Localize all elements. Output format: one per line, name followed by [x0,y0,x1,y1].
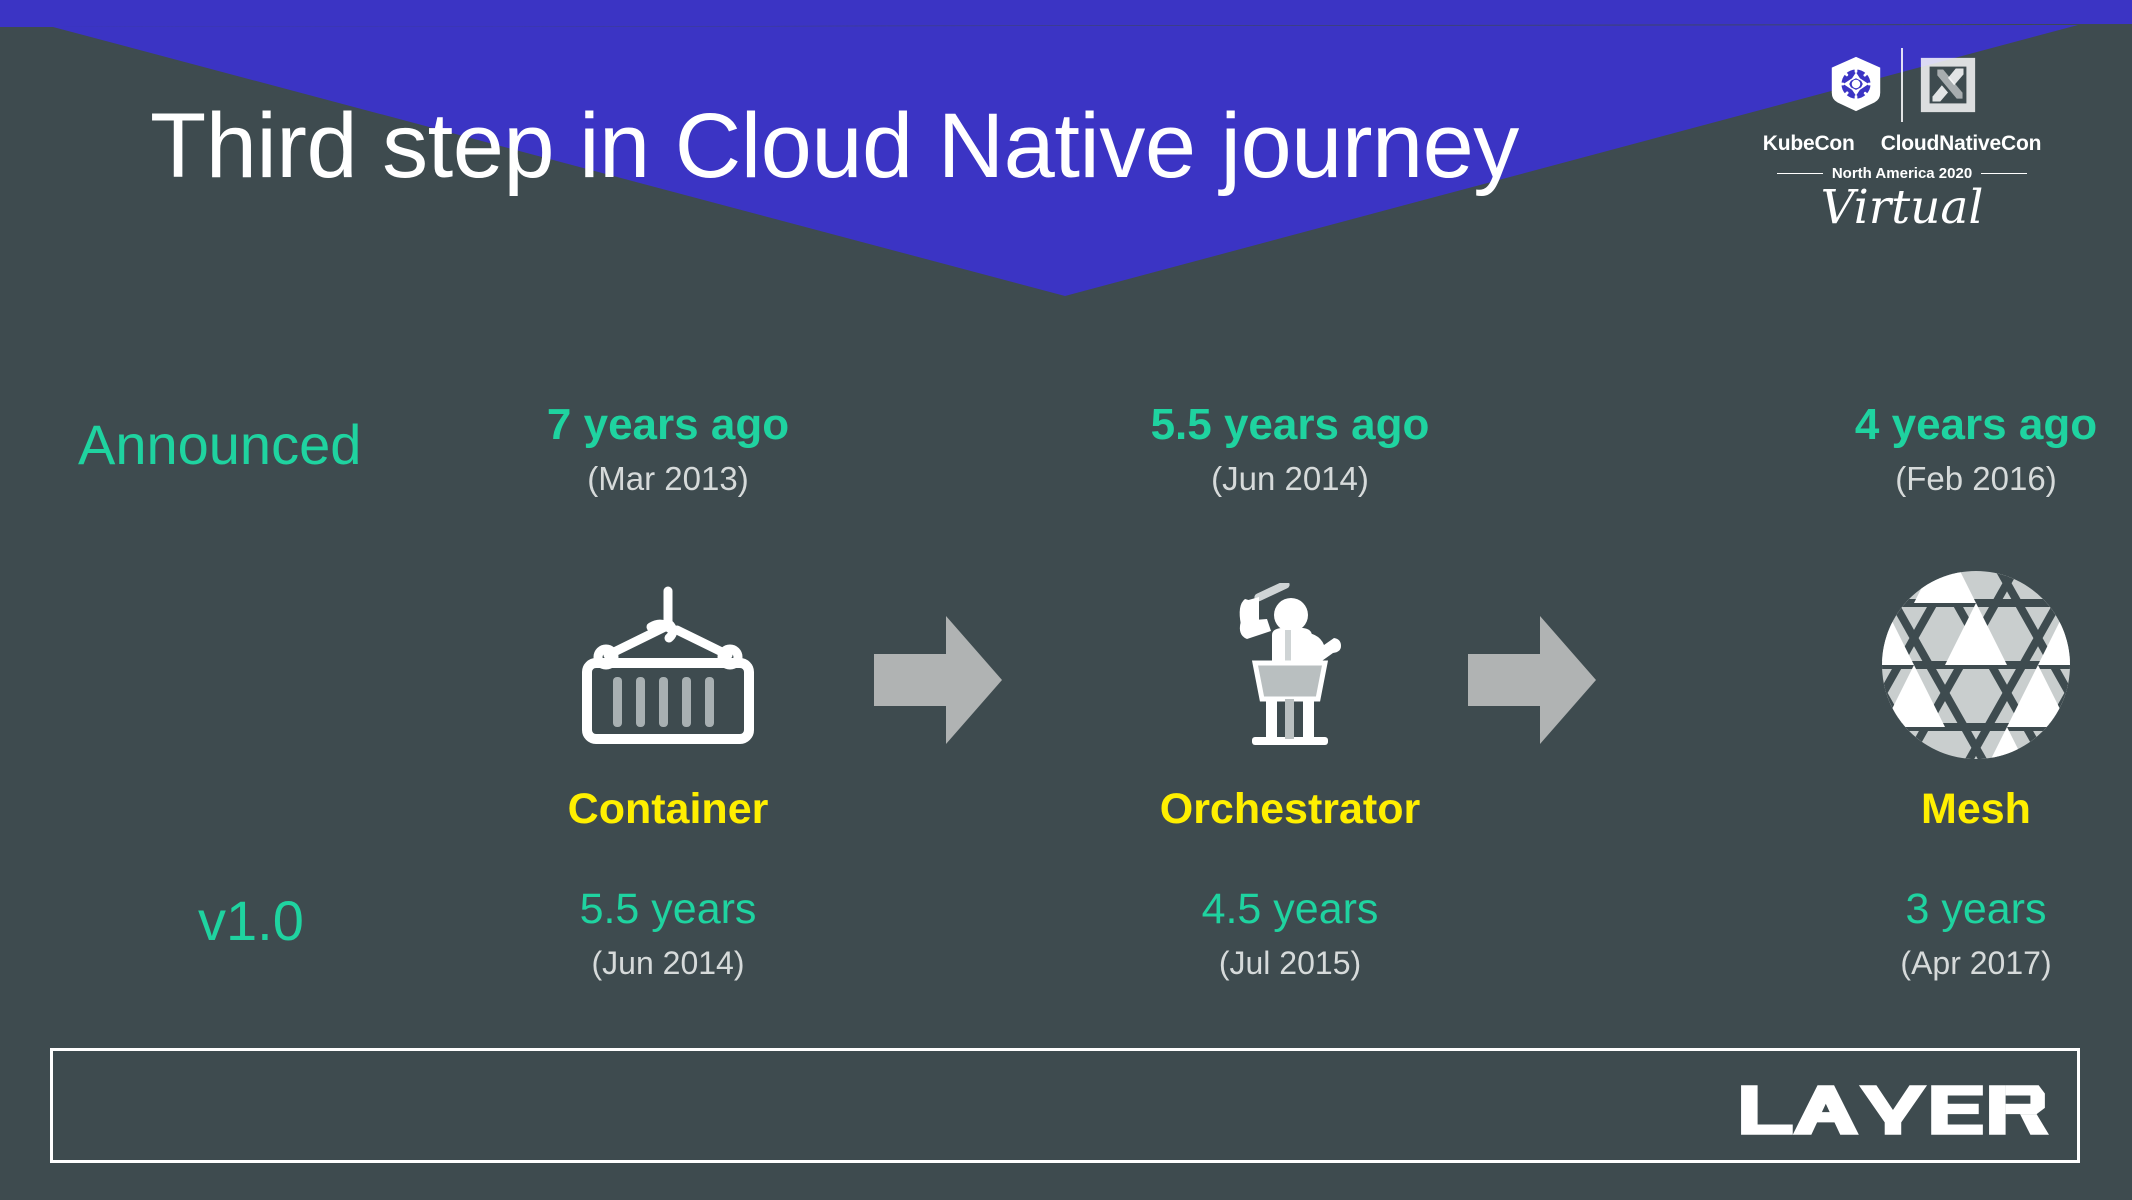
mesh-circle-icon [1880,569,2072,761]
release-ago-orchestrator: 4.5 years [1090,885,1490,934]
rule-left [1777,173,1823,175]
slide-canvas: Third step in Cloud Native journey [0,0,2132,1200]
icon-slot-container [468,565,868,765]
logo-divider [1901,48,1903,122]
rule-right [1981,173,2027,175]
release-date-container: (Jun 2014) [468,945,868,982]
arrow-right-icon [868,610,1008,750]
announced-ago-container: 7 years ago [468,400,868,450]
stage-name-container: Container [468,785,868,834]
logo-marks-row [1768,52,2036,118]
release-date-orchestrator: (Jul 2015) [1090,945,1490,982]
row-label-v1: v1.0 [198,888,304,953]
stage-name-mesh: Mesh [1776,785,2132,834]
row-label-announced: Announced [78,412,361,477]
conductor-podium-icon [1215,583,1365,748]
arrow-right-icon [1462,610,1602,750]
release-ago-mesh: 3 years [1776,885,2132,934]
kubecon-cloudnativecon-logo: KubeCon CloudNativeCon North America 202… [1768,52,2036,231]
layer5-wordmark-icon [1739,1079,2049,1141]
announced-date-mesh: (Feb 2016) [1776,460,2132,498]
shipping-container-icon [573,583,763,748]
stage-name-orchestrator: Orchestrator [1090,785,1490,834]
footer-box [50,1048,2080,1163]
announced-date-orchestrator: (Jun 2014) [1090,460,1490,498]
release-date-mesh: (Apr 2017) [1776,945,2132,982]
announced-date-container: (Mar 2013) [468,460,868,498]
conference-format: Virtual [1768,184,2036,231]
logo-names-row: KubeCon CloudNativeCon [1768,124,2036,156]
cloudnativecon-name: CloudNativeCon [1881,132,2042,156]
announced-ago-mesh: 4 years ago [1776,400,2132,450]
icon-slot-orchestrator [1090,565,1490,765]
layer5-logo [1739,1079,2049,1141]
announced-ago-orchestrator: 5.5 years ago [1090,400,1490,450]
cncf-square-icon [1917,54,1979,116]
icon-slot-mesh [1776,565,2132,765]
kubernetes-helm-icon [1825,54,1887,116]
release-ago-container: 5.5 years [468,885,868,934]
page-title: Third step in Cloud Native journey [150,98,1519,195]
kubecon-name: KubeCon [1763,132,1855,156]
